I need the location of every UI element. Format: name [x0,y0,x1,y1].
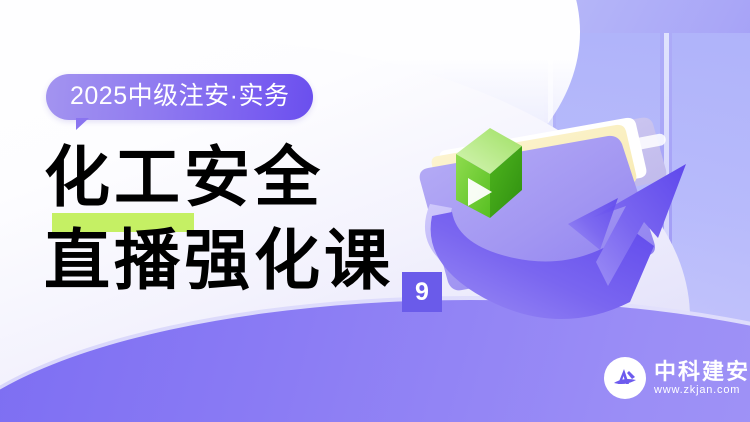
course-badge-pill: 2025中级注安·实务 [46,74,313,120]
speech-bubble-tail-icon [76,118,89,130]
episode-number-badge: 9 [402,272,442,312]
title-line-2: 直播强化课 [44,228,394,297]
illustration-folder-arrow-play [418,96,718,346]
page-title: 化工安全 直播强化课 [44,145,394,296]
course-badge-label: 2025中级注安·实务 [70,82,289,110]
title-line-2-text: 直播强化课 [44,225,394,298]
title-line-1: 化工安全 [44,145,394,214]
zkjan-circle-logo-icon [604,357,646,399]
course-promo-poster: 2025中级注安·实务 化工安全 直播强化课 9 中科建安 www.zkjan.… [0,0,750,422]
episode-number-text: 9 [415,278,429,307]
brand-url: www.zkjan.com [654,385,750,396]
title-line-1-text: 化工安全 [44,142,324,215]
brand-logo: 中科建安 www.zkjan.com [604,357,750,399]
brand-name: 中科建安 [654,361,750,383]
brand-text-group: 中科建安 www.zkjan.com [654,361,750,396]
course-badge: 2025中级注安·实务 [46,74,313,120]
